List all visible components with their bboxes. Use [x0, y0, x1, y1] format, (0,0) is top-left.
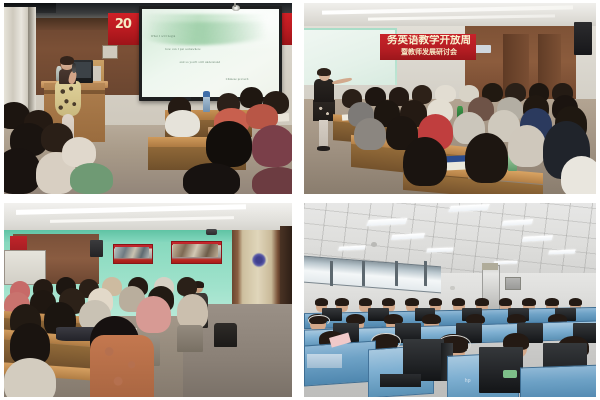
- headset-icon: [308, 315, 330, 327]
- computer-lab-scene: hp: [304, 203, 596, 397]
- lecture-hall-scene: 20 务英语 暨教师 What I will begin how can I p…: [4, 3, 292, 194]
- slide-line-2: how can I put somewhere: [165, 47, 200, 51]
- photo-panel-top-right[interactable]: 务英语教学开放周 暨教师发展研讨会: [304, 3, 596, 194]
- slide-line-1: What I will begin: [151, 34, 176, 38]
- keyboard: [380, 374, 421, 388]
- photo-panel-top-left[interactable]: 20 务英语 暨教师 What I will begin how can I p…: [4, 3, 292, 194]
- slide-line-3: and so you'll still understand: [180, 60, 221, 64]
- microphone-icon: [72, 63, 76, 73]
- banner-year-text: 20: [115, 18, 138, 33]
- wall-panel: [505, 277, 520, 291]
- speaker-icon: [574, 22, 592, 54]
- keyboard: [307, 354, 342, 368]
- green-wall-classroom-scene: [4, 203, 292, 397]
- photo-collage: 20 务英语 暨教师 What I will begin how can I p…: [0, 0, 600, 400]
- conference-room-scene: 务英语教学开放周 暨教师发展研讨会: [304, 3, 596, 194]
- slide-line-4: Chinese proverb: [226, 77, 249, 81]
- speaker-icon: [90, 240, 103, 257]
- university-emblem-icon: [250, 252, 267, 268]
- photo-panel-bottom-right[interactable]: hp: [304, 203, 596, 397]
- banner-line-2: 暨教师发展研讨会: [381, 48, 477, 59]
- projector-icon: [206, 229, 218, 235]
- banner-line-1: 务英语教学开放周: [381, 35, 477, 47]
- monitor-brand-label: hp: [465, 378, 471, 384]
- photo-panel-bottom-left[interactable]: [4, 203, 292, 397]
